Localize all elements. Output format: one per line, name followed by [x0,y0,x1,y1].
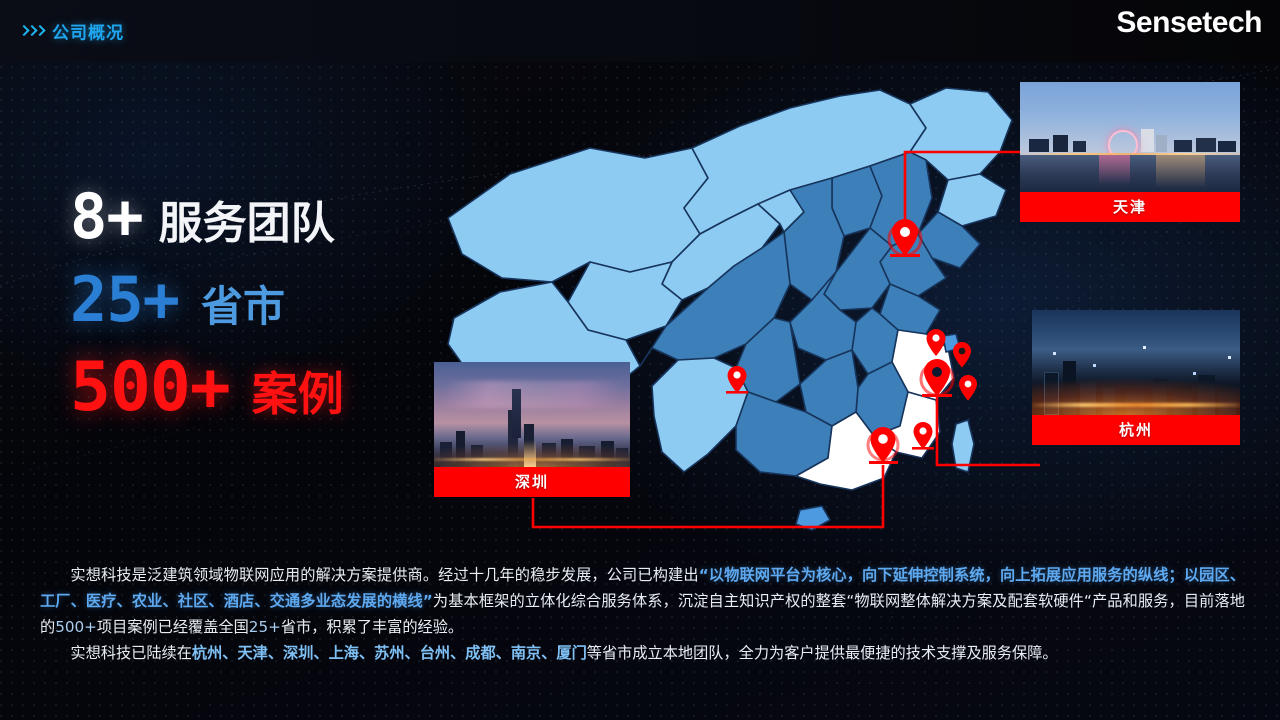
stat-number: 8+ [70,180,143,253]
p1-part-a: 实想科技是泛建筑领域物联网应用的解决方案提供商。经过十几年的稳步发展，公司已构建… [70,566,698,584]
p2-part-a: 实想科技已陆续在 [70,644,192,662]
p2-part-b: 等省市成立本地团队，全力为客户提供最便捷的技术支撑及服务保障。 [587,644,1058,662]
city-caption: 杭州 [1032,415,1240,445]
paragraph-1: 实想科技是泛建筑领域物联网应用的解决方案提供商。经过十几年的稳步发展，公司已构建… [40,562,1245,640]
city-card-shenzhen[interactable]: 深圳 [434,362,630,497]
body-paragraphs: 实想科技是泛建筑领域物联网应用的解决方案提供商。经过十几年的稳步发展，公司已构建… [40,562,1245,666]
stat-label: 服务团队 [159,187,335,251]
city-photo-tianjin [1020,82,1240,192]
stat-label: 案例 [252,358,344,424]
page-title: 公司概况 [52,19,124,44]
stat-item-provinces: 25+ 省市 [70,263,344,336]
stat-label: 省市 [201,273,285,334]
breadcrumb[interactable]: 公司概况 [20,19,124,44]
stat-item-cases: 500+ 案例 [70,348,344,427]
city-caption: 天津 [1020,192,1240,222]
city-card-tianjin[interactable]: 天津 [1020,82,1240,222]
p1-part-d: 省市，积累了丰富的经验。 [281,618,463,636]
chevrons-right-icon [20,26,43,37]
stat-number: 25+ [70,263,179,336]
city-photo-hangzhou [1032,310,1240,415]
stat-item-teams: 8+ 服务团队 [70,180,344,253]
brand-logo: Sensetech [1116,6,1262,40]
city-photo-shenzhen [434,362,630,467]
region-hainan [796,506,830,530]
region-yunnan [652,358,748,472]
city-card-hangzhou[interactable]: 杭州 [1032,310,1240,445]
city-caption: 深圳 [434,467,630,497]
stats-block: 8+ 服务团队 25+ 省市 500+ 案例 [70,180,344,431]
p1-part-c: 项目案例已经覆盖全国 [97,618,249,636]
header-bar [0,0,1280,62]
p1-number-cases: 500+ [55,618,97,636]
p2-city-list: 杭州、天津、深圳、上海、苏州、台州、成都、南京、厦门 [192,644,587,662]
paragraph-2: 实想科技已陆续在杭州、天津、深圳、上海、苏州、台州、成都、南京、厦门等省市成立本… [40,640,1245,666]
region-taiwan [952,420,974,472]
stat-number: 500+ [70,348,230,427]
p1-number-provinces: 25+ [249,618,281,636]
page-header: 公司概况 Sensetech [0,0,1280,62]
region-shanghai [943,334,960,352]
